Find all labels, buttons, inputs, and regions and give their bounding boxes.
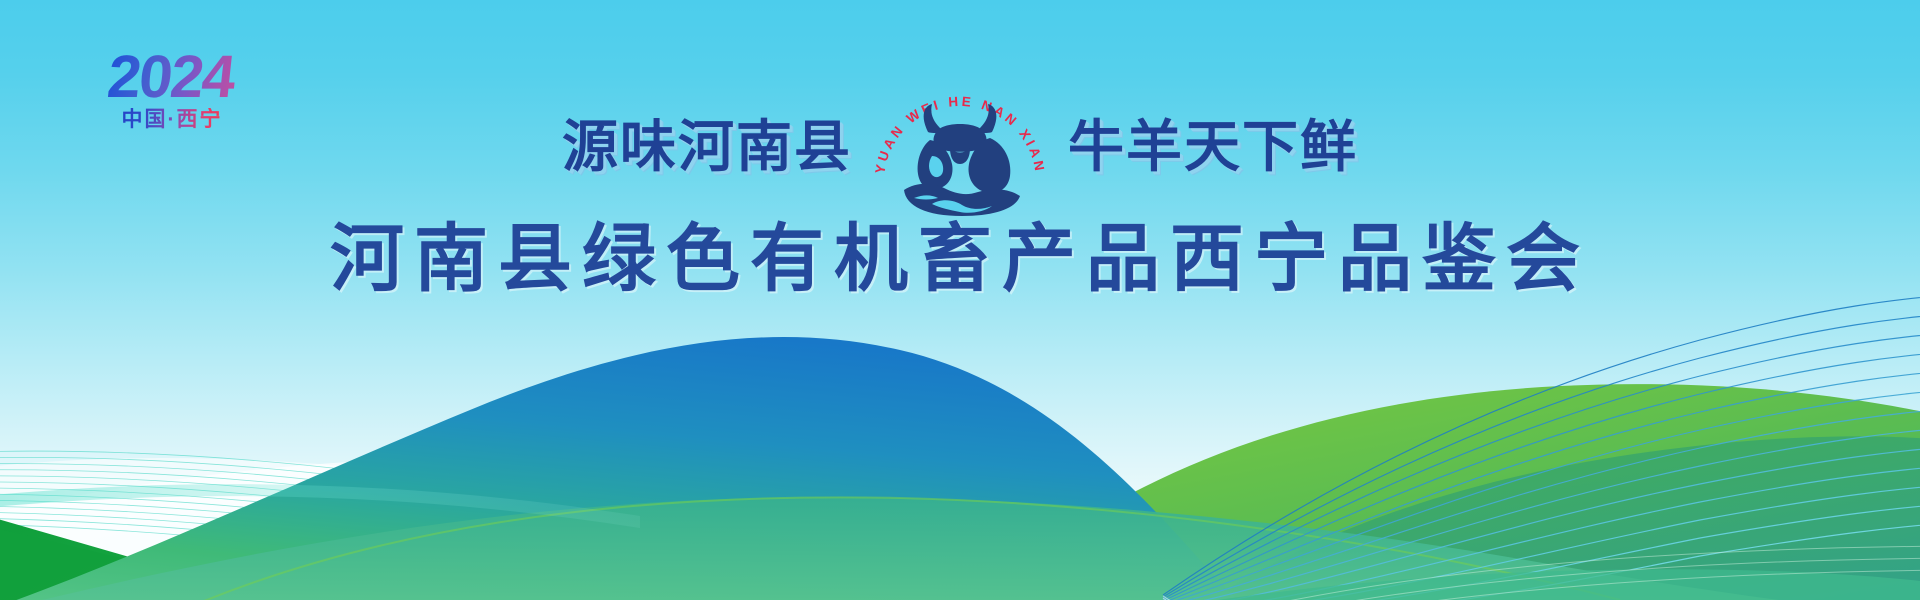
year-logo: 2024 中国·西宁 [106, 48, 326, 140]
event-banner: 2024 中国·西宁 源味河南县 YUAN WEI HE NAN XIAN [0, 0, 1920, 600]
page-title: 河南县绿色有机畜产品西宁品鉴会 [0, 222, 1920, 296]
year-text: 2024 [103, 48, 329, 106]
location-text: 中国·西宁 [106, 108, 238, 132]
